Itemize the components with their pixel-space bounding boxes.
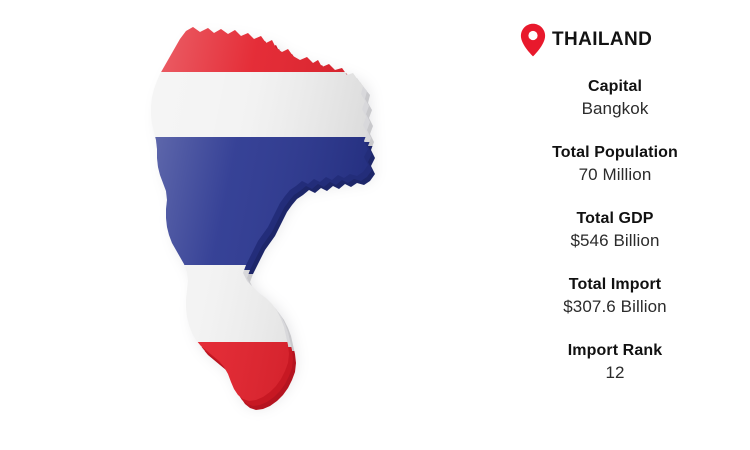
- stat-label: Total Import: [480, 274, 750, 295]
- country-header: THAILAND: [480, 18, 750, 62]
- stat-import-rank: Import Rank 12: [480, 340, 750, 385]
- map-area: [0, 0, 480, 450]
- stat-label: Import Rank: [480, 340, 750, 361]
- stats-list: Capital Bangkok Total Population 70 Mill…: [480, 76, 750, 385]
- stat-value: $546 Billion: [480, 229, 750, 253]
- stat-label: Total Population: [480, 142, 750, 163]
- stat-capital: Capital Bangkok: [480, 76, 750, 121]
- stat-total-import: Total Import $307.6 Billion: [480, 274, 750, 319]
- stat-value: 70 Million: [480, 163, 750, 187]
- thailand-3d-map: [0, 0, 480, 450]
- stat-total-population: Total Population 70 Million: [480, 142, 750, 187]
- country-info-card: THAILAND Capital Bangkok Total Populatio…: [0, 0, 750, 450]
- stat-total-gdp: Total GDP $546 Billion: [480, 208, 750, 253]
- map-top-face-flag-bands: [151, 27, 368, 401]
- stat-label: Total GDP: [480, 208, 750, 229]
- info-panel: THAILAND Capital Bangkok Total Populatio…: [480, 0, 750, 450]
- location-pin-icon: [520, 23, 546, 57]
- stat-label: Capital: [480, 76, 750, 97]
- country-name: THAILAND: [552, 29, 652, 51]
- stat-value: Bangkok: [480, 97, 750, 121]
- stat-value: $307.6 Billion: [480, 295, 750, 319]
- stat-value: 12: [480, 361, 750, 385]
